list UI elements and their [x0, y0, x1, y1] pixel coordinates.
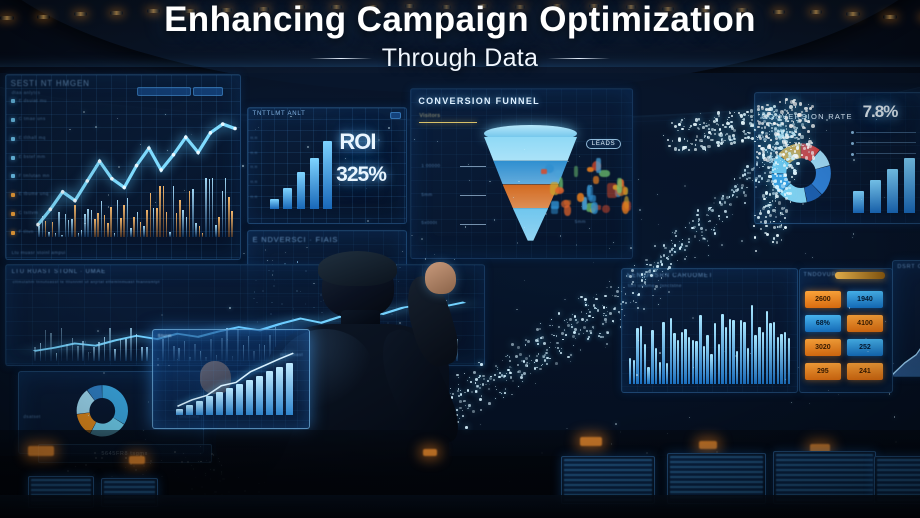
- engagement-bar: [751, 305, 753, 385]
- legend-bullet: [11, 174, 15, 178]
- spike-bar: [231, 211, 233, 237]
- funnel-leads-badge[interactable]: LEADS: [586, 139, 622, 149]
- spike-bar: [146, 347, 148, 361]
- legend-rule: [856, 153, 916, 154]
- holographic-tablet[interactable]: Sturm tsnutmast: [152, 329, 310, 429]
- spike-bar: [120, 218, 122, 237]
- title-rule-right: [548, 58, 610, 60]
- data-point: [172, 153, 176, 157]
- spike-bar: [107, 223, 109, 237]
- kpi-value[interactable]: 4100: [847, 315, 883, 332]
- roi-bar: [297, 172, 306, 209]
- panel-trend-left[interactable]: Sesti nt hmgen dtaa anlytcs E dsuiat muC…: [5, 74, 242, 260]
- spike-bar: [68, 220, 70, 237]
- data-point: [135, 164, 139, 168]
- spike-bar: [130, 328, 132, 361]
- spike-bar: [186, 217, 188, 237]
- engagement-bar: [784, 332, 786, 384]
- spike-bar: [77, 346, 79, 361]
- engagement-bar: [677, 340, 679, 385]
- monitor-screen: [776, 454, 873, 501]
- panel-control-chip[interactable]: [137, 87, 191, 96]
- legend-dot: [851, 142, 854, 145]
- engagement-bar: [666, 363, 668, 384]
- legend-label: C tsttvm: [19, 210, 39, 215]
- spike-bar: [173, 186, 175, 237]
- spike-bar: [136, 334, 138, 361]
- control-room-foreground: [0, 430, 920, 518]
- growth-area-chart: [893, 294, 920, 377]
- title-rule-left: [310, 58, 372, 60]
- spike-bar: [150, 193, 152, 237]
- engagement-bar: [710, 354, 712, 384]
- engagement-bar: [684, 329, 686, 385]
- spike-bar: [42, 216, 44, 238]
- map-landmass: [602, 205, 609, 213]
- legend-bullet: [11, 193, 15, 197]
- roi-metric-value: 325%: [336, 163, 386, 187]
- panel-trend-left-header: Sesti nt hmgen: [11, 79, 90, 88]
- panel-conversion-funnel[interactable]: Conversion Funnel Visitors 1 000005mm5x0…: [410, 88, 633, 259]
- panel-engagement-subhead: tort ustume · txnctstne: [628, 283, 682, 288]
- data-point: [184, 135, 188, 139]
- spike-bar: [189, 191, 191, 238]
- subtitle-row: Through Data: [0, 44, 920, 73]
- spike-bar: [110, 207, 112, 238]
- title-block: Enhancing Campaign Optimization Through …: [0, 0, 920, 73]
- roi-bar: [270, 199, 279, 209]
- spike-bar: [72, 338, 74, 361]
- engagement-bar: [699, 315, 701, 384]
- engagement-bar: [762, 332, 764, 384]
- map-landmass: [574, 166, 578, 177]
- spike-bar: [205, 178, 207, 237]
- engagement-bar: [729, 319, 731, 384]
- engagement-bar: [747, 348, 749, 384]
- spike-bar: [218, 217, 220, 238]
- axis-tick: tt.tt: [251, 136, 258, 140]
- engagement-bar: [647, 367, 649, 384]
- engagement-bar: [644, 344, 646, 384]
- spike-bar: [123, 205, 125, 238]
- tablet-header: Sturm: [158, 333, 172, 338]
- axis-tick: tt.tt: [251, 165, 258, 169]
- spike-bar: [61, 328, 63, 361]
- engagement-bar: [662, 322, 664, 384]
- spike-bar: [56, 353, 58, 361]
- spike-bar: [130, 228, 132, 237]
- spike-bar: [104, 215, 106, 238]
- engagement-bar: [740, 320, 742, 384]
- legend-rule: [856, 142, 916, 143]
- map-landmass: [541, 169, 547, 174]
- spike-bar: [81, 230, 83, 237]
- tablet-trend-line: [175, 350, 297, 415]
- legend-bullet: [11, 137, 15, 141]
- panel-growth-header: Dsrt ctn: [897, 264, 920, 270]
- spike-bar: [202, 233, 204, 238]
- kpi-value[interactable]: 1940: [847, 291, 883, 308]
- panel-engagement-header: Eeniugsrn caruomet: [627, 273, 713, 279]
- legend-label: E dsuiat mu: [19, 98, 47, 103]
- right-hand: [425, 262, 456, 294]
- funnel-stage-label: 5x000t: [421, 220, 437, 225]
- legend-bullet: [11, 212, 15, 216]
- spike-bars: [38, 178, 235, 237]
- engagement-bar: [633, 360, 635, 385]
- kpi-value[interactable]: 295: [805, 363, 841, 380]
- spike-bar: [127, 198, 129, 238]
- page-subtitle: Through Data: [382, 44, 538, 73]
- engagement-bar: [670, 318, 672, 385]
- roi-bar: [283, 188, 292, 209]
- spike-bar: [66, 344, 68, 361]
- map-landmass: [591, 202, 598, 214]
- axis-tick: tt.tt: [251, 195, 258, 199]
- conversion-rate-donut: [762, 134, 840, 212]
- legend-dot: [851, 131, 854, 134]
- spike-bar: [159, 186, 161, 237]
- leader-line: [460, 224, 486, 225]
- spike-bar: [91, 210, 93, 238]
- funnel-header: Conversion Funnel: [418, 96, 540, 106]
- map-landmass: [599, 170, 609, 177]
- kpi-progress-bar: [835, 272, 886, 279]
- engagement-bar: [736, 351, 738, 385]
- spike-bar: [50, 333, 52, 361]
- engagement-bar: [636, 328, 638, 385]
- spike-bar: [176, 213, 178, 238]
- spike-bar: [182, 210, 184, 238]
- spike-bar: [55, 233, 57, 237]
- kpi-value-grid: 2600194068%41003020252295241: [805, 291, 886, 387]
- spike-bar: [114, 233, 116, 238]
- engagement-bar: [743, 322, 745, 384]
- page-title: Enhancing Campaign Optimization: [0, 0, 920, 40]
- engagement-bar: [766, 311, 768, 384]
- spike-bar: [65, 214, 67, 238]
- spike-bar: [212, 178, 214, 237]
- engagement-bar: [695, 341, 697, 385]
- leader-line: [460, 166, 486, 167]
- donut-segment[interactable]: [102, 385, 128, 424]
- panel-kpi-board[interactable]: tndovuri 2600194068%41003020252295241: [799, 268, 893, 393]
- engagement-bar: [655, 348, 657, 385]
- legend-label: F tltvn: [19, 229, 34, 234]
- map-landmass: [622, 202, 629, 214]
- panel-control-chip-2[interactable]: [193, 87, 223, 96]
- kpi-value[interactable]: 2600: [805, 291, 841, 308]
- spike-bar: [45, 221, 47, 237]
- map-landmass: [617, 178, 621, 193]
- spike-bar: [137, 212, 139, 238]
- spike-bar: [38, 226, 40, 238]
- spike-bar: [45, 330, 47, 361]
- engagement-bar: [769, 323, 771, 384]
- spike-bar: [222, 191, 224, 237]
- spike-bar: [209, 179, 211, 238]
- map-landmass: [555, 170, 562, 178]
- spike-bar: [195, 223, 197, 238]
- panel-engagement[interactable]: Eeniugsrn caruomet tort ustume · txnctst…: [621, 268, 798, 393]
- kpi-value[interactable]: 3020: [805, 339, 841, 356]
- spike-bar: [87, 209, 89, 237]
- spike-bar: [40, 343, 42, 360]
- spike-bar: [120, 339, 122, 361]
- engagement-bar: [714, 323, 716, 385]
- map-landmass: [587, 185, 592, 200]
- legend-rule: [856, 132, 916, 133]
- spike-bar: [140, 222, 142, 238]
- engagement-bar: [651, 330, 653, 384]
- spike-bar: [166, 212, 168, 237]
- engagement-bar: [732, 320, 734, 385]
- engagement-bar: [754, 335, 756, 385]
- spike-bar: [109, 328, 111, 361]
- engagement-bar: [721, 314, 723, 385]
- kpi-value[interactable]: 241: [847, 363, 883, 380]
- data-point: [197, 151, 201, 155]
- kpi-value[interactable]: 252: [847, 339, 883, 356]
- roi-metric-label: ROI: [339, 129, 375, 155]
- legend-bullet: [11, 99, 15, 103]
- panel-growth-right[interactable]: Dsrt ctn: [892, 260, 920, 377]
- engagement-column-chart: [629, 296, 792, 384]
- spike-bar: [114, 349, 116, 361]
- axis-tick: tt.tt: [251, 151, 258, 155]
- map-landmass: [577, 193, 585, 202]
- spike-bar: [146, 210, 148, 237]
- spike-bar: [101, 201, 103, 237]
- conversion-bar: [870, 180, 882, 213]
- engagement-bar: [706, 335, 708, 384]
- spike-bar: [141, 347, 143, 361]
- hero-image: Sesti nt hmgen dtaa anlytcs E dsuiat muC…: [0, 0, 920, 518]
- spike-bar: [48, 232, 50, 237]
- engagement-bar: [681, 332, 683, 385]
- engagement-bar: [629, 358, 631, 385]
- conversion-rate-value: 7.8%: [863, 102, 898, 122]
- data-point: [160, 168, 164, 172]
- spike-bar: [71, 219, 73, 238]
- engagement-bar: [777, 337, 779, 384]
- panel-roi[interactable]: tnttlmt anlt tt.tttt.tttt.tttt.tttt.tt R…: [247, 107, 407, 224]
- roi-bar: [323, 141, 332, 209]
- spike-bar: [34, 347, 36, 361]
- funnel-accent-rule: [419, 122, 476, 124]
- kpi-value[interactable]: 68%: [805, 315, 841, 332]
- spike-bar: [74, 205, 76, 237]
- panel-trend-lower-header: Ltu ruast stonl · umae: [12, 269, 106, 275]
- spike-bar: [156, 208, 158, 237]
- world-map: [535, 156, 632, 223]
- legend-bullet: [11, 231, 15, 235]
- engagement-bar: [758, 327, 760, 385]
- axis-tick: tt.tt: [251, 180, 258, 184]
- map-landmass: [596, 158, 601, 172]
- spike-bar: [52, 222, 54, 237]
- engagement-bar: [773, 322, 775, 384]
- panel-conversion-rate[interactable]: Conversion Rate 7.8%: [754, 92, 920, 224]
- roi-bar: [310, 158, 319, 209]
- data-point: [234, 127, 238, 131]
- spike-bar: [215, 225, 217, 237]
- spike-bar: [143, 226, 145, 237]
- conversion-bar: [904, 158, 916, 213]
- spike-bar: [179, 200, 181, 237]
- spike-bar: [133, 217, 135, 237]
- legend-dot: [851, 153, 854, 156]
- conversion-rate-header: Conversion Rate: [761, 112, 852, 121]
- leader-line: [460, 195, 486, 196]
- engagement-bar: [692, 340, 694, 384]
- spike-bar: [163, 186, 165, 237]
- legend-rules: [851, 132, 919, 163]
- panel-trend-lower-subhead: cttmulahm tnnutoasst te ttlunnmt ut anjr…: [13, 279, 290, 285]
- spike-bar: [78, 233, 80, 237]
- engagement-bar: [640, 326, 642, 385]
- engagement-bar: [703, 346, 705, 385]
- spike-bar: [125, 339, 127, 361]
- spike-bar: [104, 337, 106, 361]
- spike-bar: [228, 197, 230, 238]
- spike-bar: [58, 212, 60, 238]
- map-landmass: [593, 176, 599, 184]
- spike-bar: [84, 214, 86, 238]
- spike-bar: [97, 213, 99, 237]
- engagement-bar: [673, 333, 675, 384]
- conversion-bar: [887, 169, 899, 213]
- roi-bar-chart: [268, 138, 334, 209]
- spike-bar: [82, 341, 84, 360]
- ambient-light: [423, 449, 437, 456]
- panel-roi-header: tnttlmt anlt: [253, 111, 306, 117]
- spike-bar: [192, 189, 194, 237]
- panel-roi-control-chip[interactable]: [390, 112, 401, 119]
- engagement-bar: [688, 337, 690, 384]
- data-point: [221, 122, 225, 126]
- map-landmass: [555, 187, 564, 194]
- conversion-bar: [853, 191, 865, 212]
- spike-bar: [117, 200, 119, 237]
- spike-bar: [169, 232, 171, 238]
- engagement-bar: [725, 327, 727, 384]
- funnel-subhead: Visitors: [419, 113, 440, 119]
- map-landmass: [551, 206, 558, 214]
- desk-surface: [0, 495, 920, 518]
- funnel-stage-label: 1 00000: [421, 163, 440, 168]
- legend-bullet: [11, 118, 15, 122]
- spike-bar: [94, 219, 96, 237]
- spike-bar: [61, 235, 63, 238]
- hair: [318, 251, 397, 286]
- engagement-bar: [788, 338, 790, 385]
- ambient-light: [699, 441, 717, 449]
- spike-bar: [98, 342, 100, 361]
- panel-trend-left-subhead: dtaa anlytcs: [12, 90, 41, 95]
- data-point: [209, 131, 213, 135]
- data-point: [98, 159, 102, 163]
- engagement-bar: [718, 344, 720, 384]
- spike-bar: [88, 352, 90, 361]
- spike-bar: [225, 178, 227, 237]
- spike-bar: [153, 208, 155, 238]
- ambient-light: [129, 456, 145, 464]
- engagement-bar: [780, 334, 782, 384]
- legend-bullet: [11, 156, 15, 160]
- data-point: [147, 146, 151, 150]
- funnel-stage-label: 5mm: [421, 192, 432, 197]
- panel-trend-left-footer: Ltu muasr stoinl ampui: [12, 250, 66, 255]
- spike-bar: [93, 347, 95, 360]
- kpi-board-header: tndovuri: [804, 272, 839, 278]
- ambient-light: [580, 437, 602, 446]
- ambient-light: [28, 446, 54, 456]
- engagement-bar: [659, 362, 661, 384]
- spike-bar: [199, 226, 201, 237]
- donut-left-label: dsatset: [23, 414, 40, 419]
